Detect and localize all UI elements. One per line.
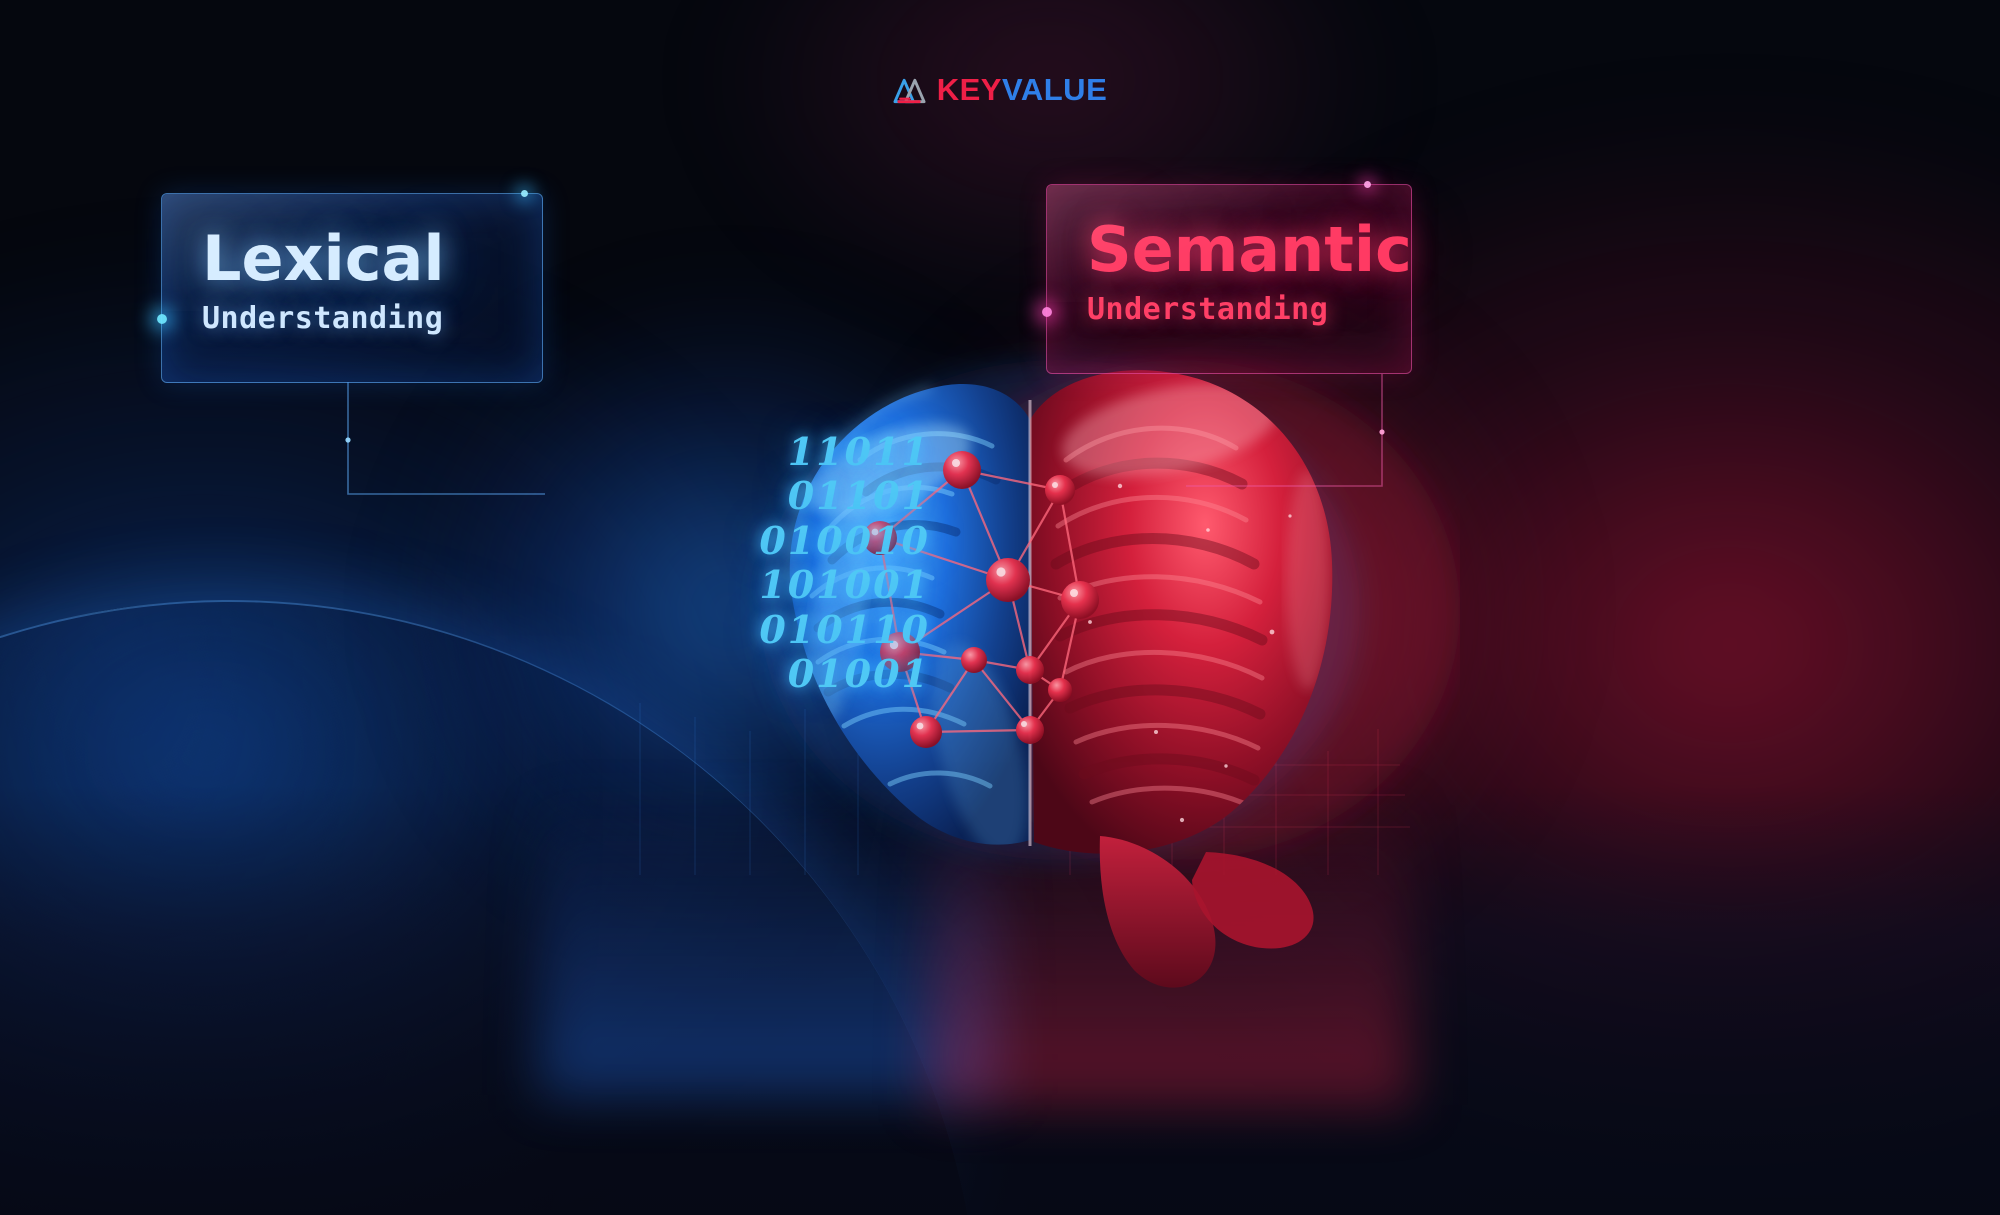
connector-line-left <box>340 382 550 512</box>
brand-logo[interactable]: KEYVALUE <box>0 74 2000 105</box>
panel-semantic-subtitle: Understanding <box>1087 295 1371 325</box>
panel-lexical-title: Lexical <box>202 228 502 290</box>
panel-lexical[interactable]: Lexical Understanding <box>161 193 543 383</box>
panel-corner-spark <box>157 314 167 324</box>
panel-lexical-subtitle: Understanding <box>202 304 502 334</box>
panel-semantic-title: Semantic <box>1087 219 1371 281</box>
brain-illustration <box>560 280 1460 1000</box>
brand-word-value: VALUE <box>1002 72 1107 107</box>
brand-word-key: KEY <box>937 72 1002 107</box>
panel-edge-spark <box>1364 181 1371 188</box>
panel-semantic[interactable]: Semantic Understanding <box>1046 184 1412 374</box>
panel-edge-spark <box>521 190 528 197</box>
hero-canvas: KEYVALUE <box>0 0 2000 1215</box>
brand-wordmark: KEYVALUE <box>937 74 1108 105</box>
keyvalue-triangle-logo-icon <box>893 75 926 105</box>
brain-left-hemisphere <box>790 384 1046 866</box>
